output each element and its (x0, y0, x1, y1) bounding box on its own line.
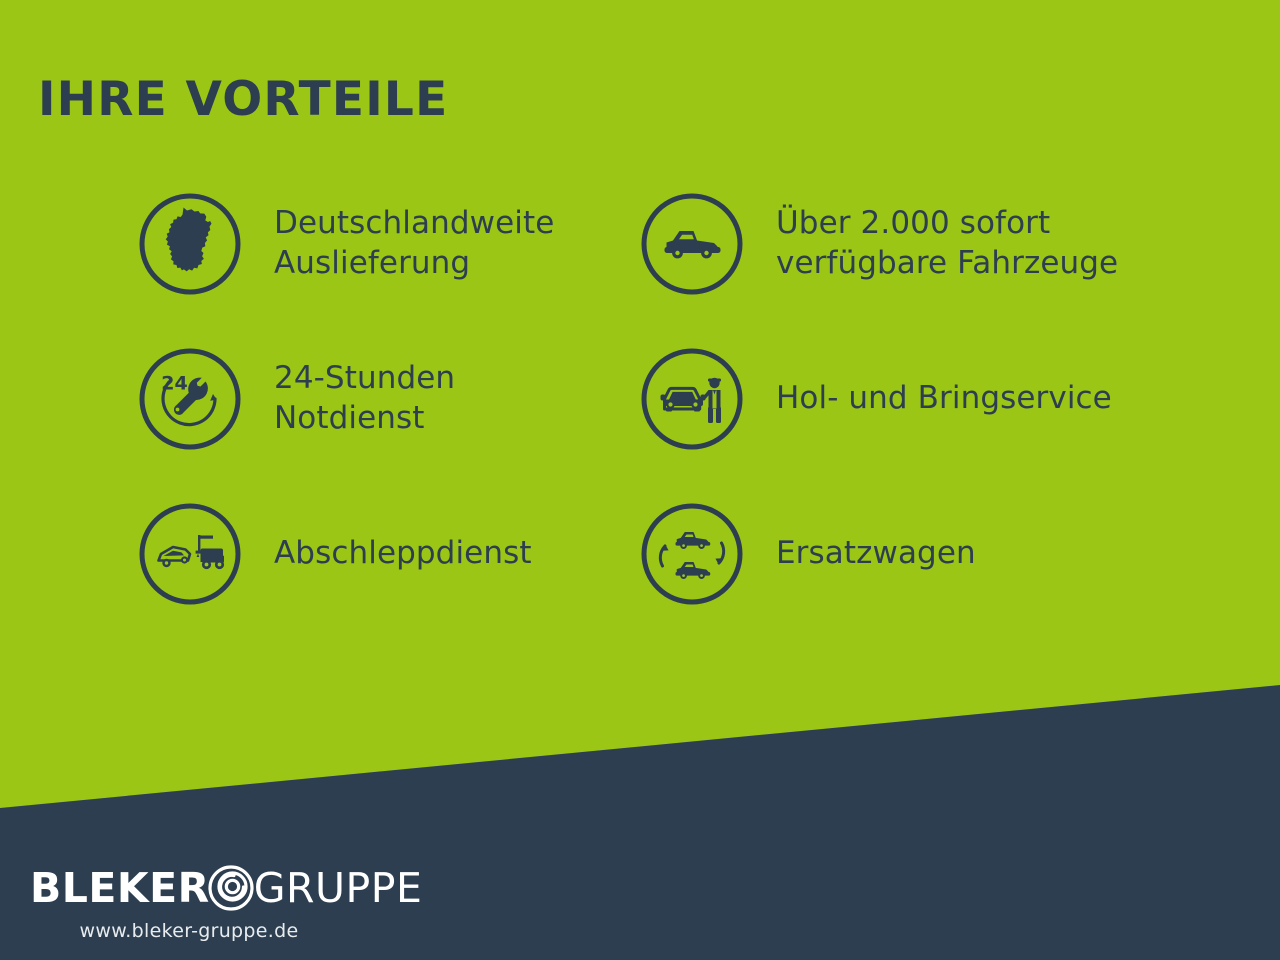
benefit-label: Über 2.000 sofort verfügbare Fahrzeuge (776, 204, 1118, 283)
page-title: IHRE VORTEILE (38, 74, 448, 126)
benefit-item-ersatzwagen: Ersatzwagen (638, 500, 976, 608)
benefit-label: Deutschlandweite Auslieferung (274, 204, 554, 283)
benefit-item-24-stunden-notdienst: 24 24-Stunden Notdienst (136, 345, 455, 453)
benefit-item-abschleppdienst: Abschleppdienst (136, 500, 532, 608)
benefit-item-verfuegbare-fahrzeuge: Über 2.000 sofort verfügbare Fahrzeuge (638, 190, 1118, 298)
24-hour-wrench-icon: 24 (136, 345, 244, 453)
logo-lockup: BLEKER GRUPPE (30, 862, 450, 914)
benefit-label: Abschleppdienst (274, 534, 532, 574)
logo-primary-text: BLEKER (30, 868, 210, 909)
logo-secondary-text: GRUPPE (254, 868, 423, 909)
benefit-item-hol-und-bringservice: Hol- und Bringservice (638, 345, 1112, 453)
car-side-icon (638, 190, 746, 298)
footer-website-url[interactable]: www.bleker-gruppe.de (30, 920, 348, 942)
footer-logo-block[interactable]: BLEKER GRUPPE www.bleker-gruppe.de (30, 862, 450, 942)
two-cars-exchange-icon (638, 500, 746, 608)
tow-truck-icon (136, 500, 244, 608)
benefit-label: Ersatzwagen (776, 534, 976, 574)
benefit-item-deutschlandweite-auslieferung: Deutschlandweite Auslieferung (136, 190, 554, 298)
spiral-circle-icon (204, 861, 258, 915)
benefit-label: Hol- und Bringservice (776, 379, 1112, 419)
slide-root: IHRE VORTEILE Deutschlandweite Ausliefer… (0, 0, 1280, 960)
svg-text:24: 24 (161, 373, 187, 395)
car-with-person-icon (638, 345, 746, 453)
benefit-label: 24-Stunden Notdienst (274, 359, 455, 438)
germany-map-icon (136, 190, 244, 298)
